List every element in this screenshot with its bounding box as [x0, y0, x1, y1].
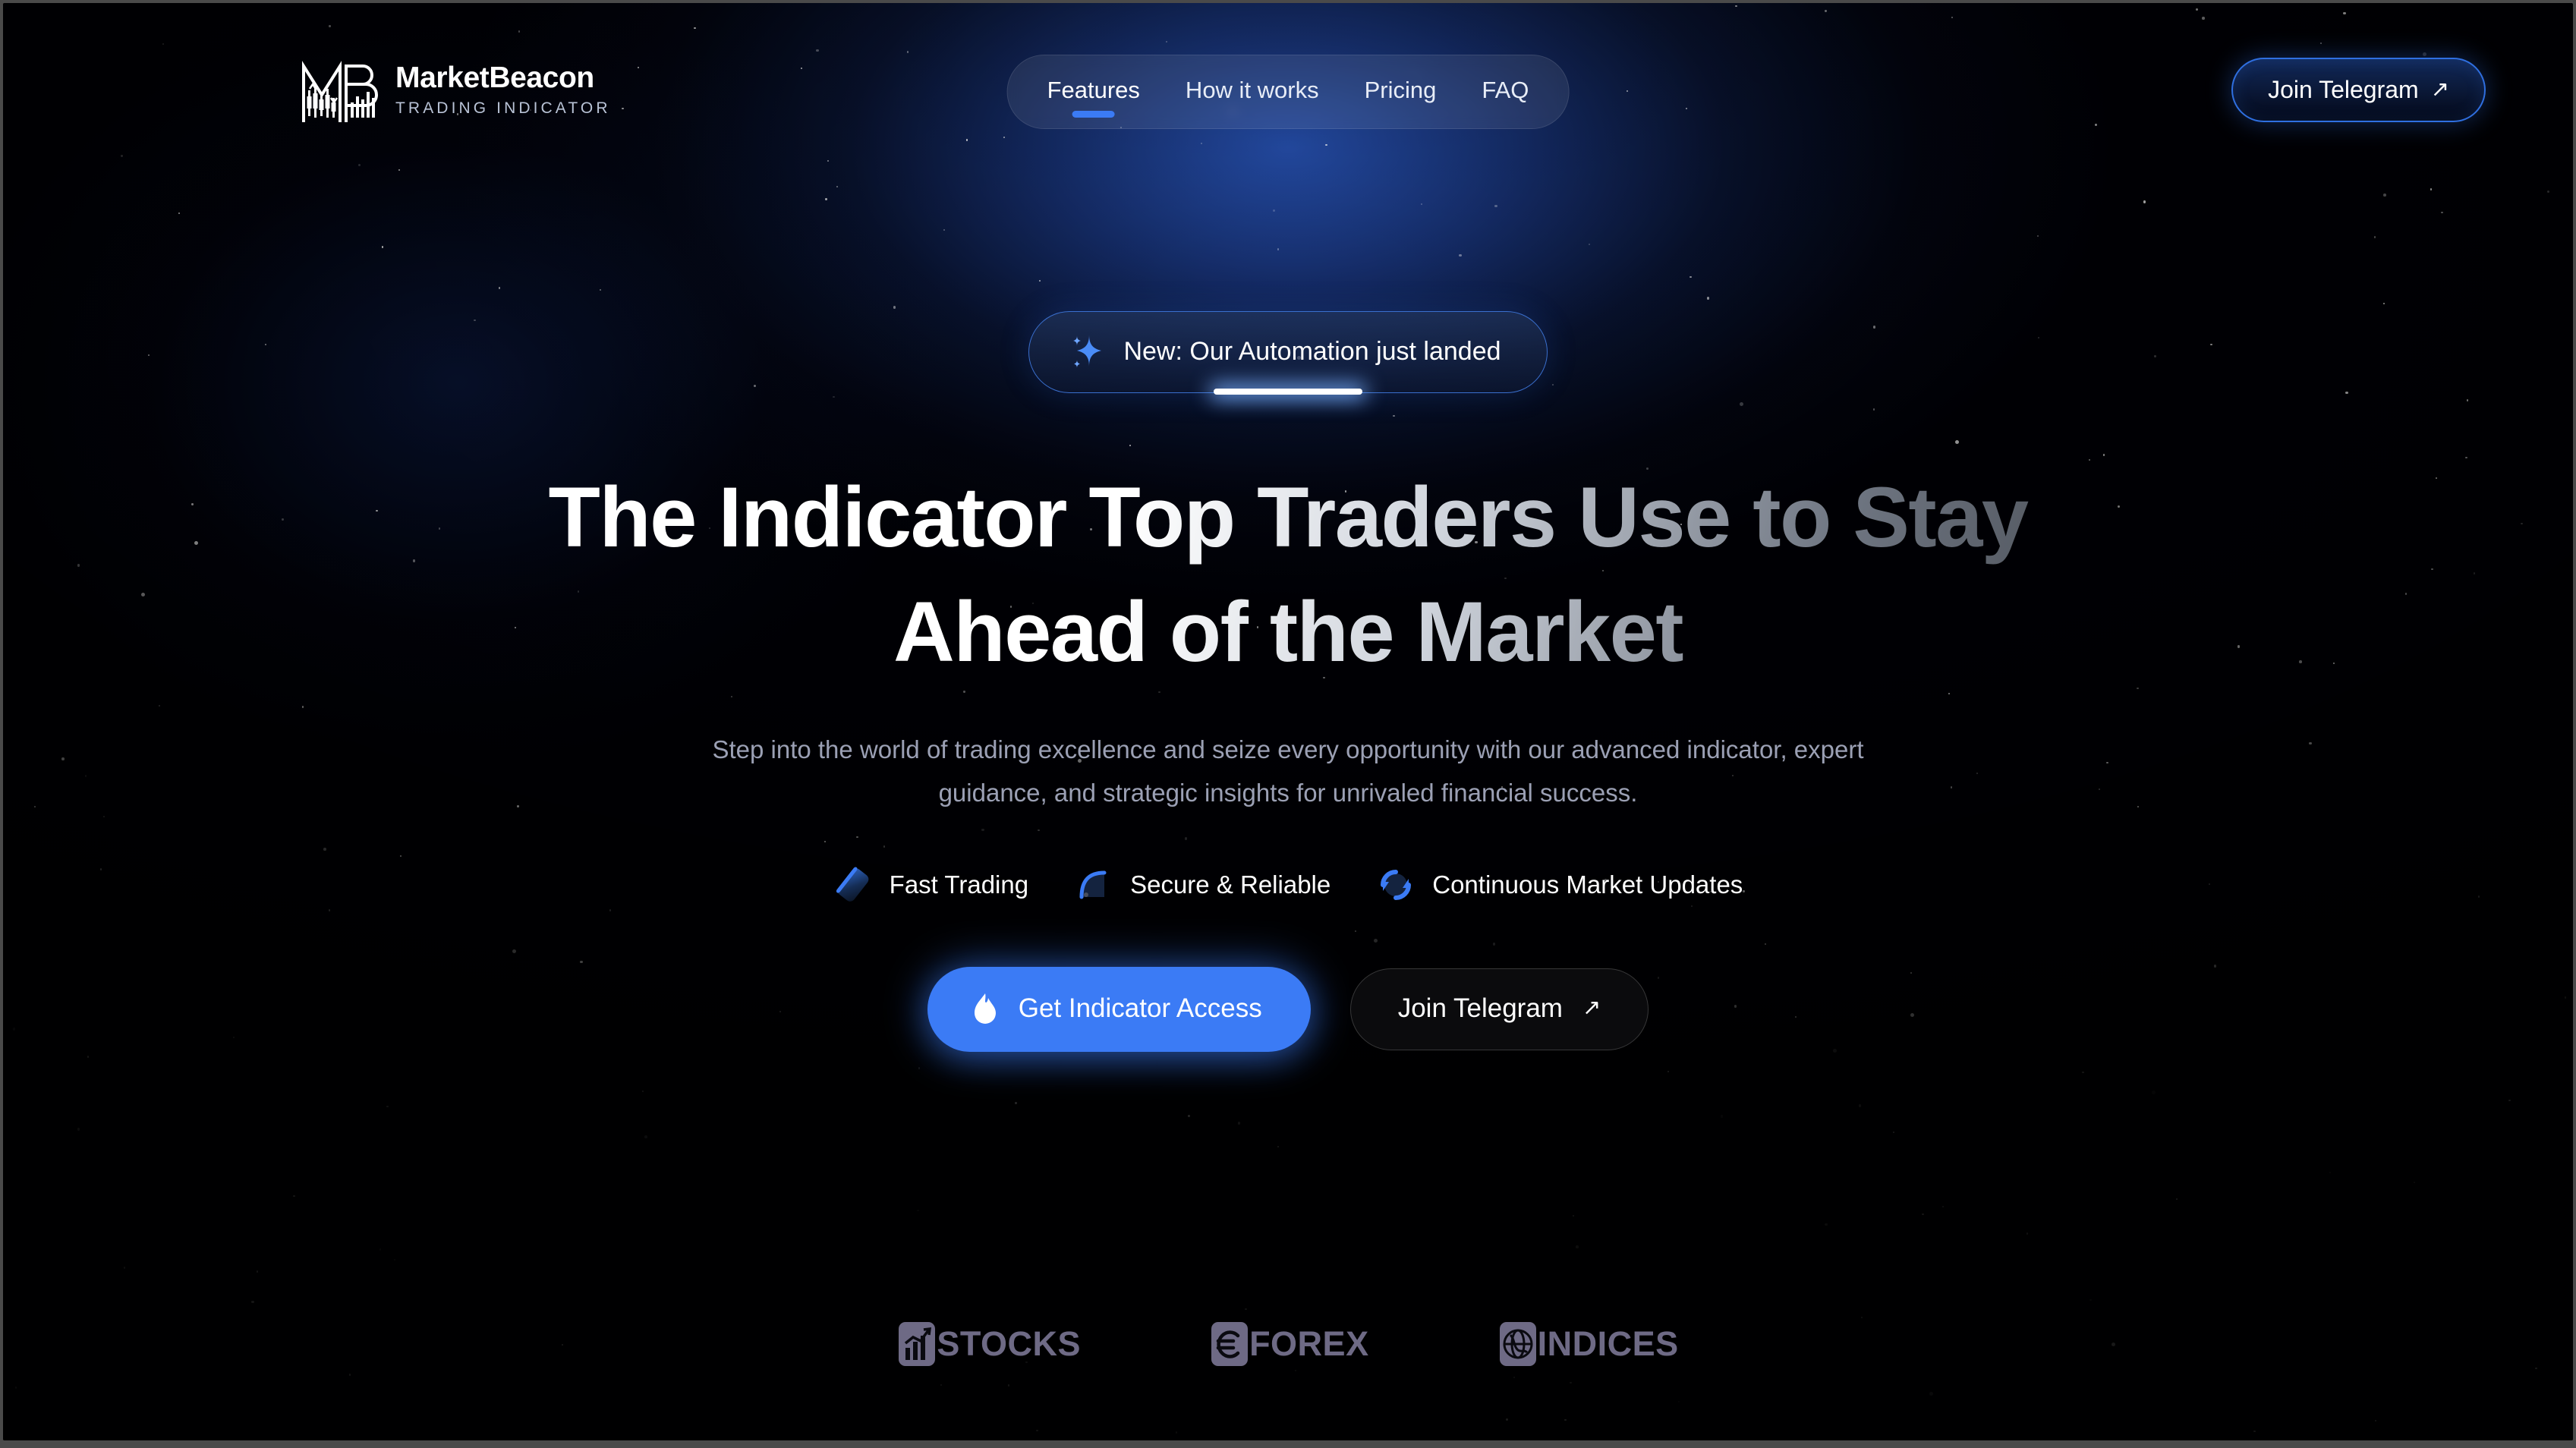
market-label: INDICES	[1538, 1324, 1679, 1364]
sparkle-icon	[1069, 332, 1104, 371]
landing-page: MarketBeacon TRADING INDICATOR Features …	[3, 3, 2573, 1440]
market-item-forex: FOREX	[1210, 1321, 1369, 1368]
feature-chip-fast-trading: Fast Trading	[833, 865, 1028, 905]
euro-currency-icon	[1210, 1321, 1249, 1368]
brand-tagline: TRADING INDICATOR	[395, 99, 611, 118]
nav-item-label: How it works	[1186, 77, 1319, 103]
globe-icon	[1498, 1321, 1538, 1368]
primary-nav: Features How it works Pricing FAQ	[1007, 55, 1570, 129]
feature-chip-row: Fast Trading Secure & Reliable C	[833, 865, 1743, 905]
hero-join-telegram-label: Join Telegram	[1398, 993, 1563, 1024]
announcement-accent-bar	[1214, 389, 1362, 395]
nav-item-faq[interactable]: FAQ	[1459, 63, 1551, 121]
flame-icon	[970, 991, 1000, 1026]
hero-join-telegram-button[interactable]: Join Telegram ↗	[1350, 968, 1649, 1050]
market-item-indices: INDICES	[1498, 1321, 1679, 1368]
market-item-stocks: STOCKS	[897, 1321, 1081, 1368]
arrow-up-right-icon: ↗	[1582, 997, 1601, 1019]
arrow-up-right-icon: ↗	[2431, 79, 2449, 101]
mb-monogram-candlestick-icon	[299, 55, 379, 125]
browser-window-frame: MarketBeacon TRADING INDICATOR Features …	[0, 0, 2576, 1448]
feature-chip-market-updates: Continuous Market Updates	[1376, 865, 1743, 905]
nav-active-underline	[1072, 111, 1115, 118]
nav-item-label: Features	[1047, 77, 1140, 103]
brand-name: MarketBeacon	[395, 63, 611, 94]
get-indicator-access-button[interactable]: Get Indicator Access	[927, 967, 1311, 1052]
nav-item-how-it-works[interactable]: How it works	[1163, 63, 1342, 121]
shield-icon	[1074, 865, 1113, 905]
feature-label: Fast Trading	[890, 870, 1028, 899]
site-header: MarketBeacon TRADING INDICATOR Features …	[3, 3, 2573, 178]
header-join-telegram-label: Join Telegram	[2268, 76, 2419, 104]
nav-item-features[interactable]: Features	[1025, 63, 1163, 121]
announcement-label: New: Our Automation just landed	[1123, 337, 1501, 367]
nav-item-pricing[interactable]: Pricing	[1342, 63, 1460, 121]
page-title: The Indicator Top Traders Use to Stay Ah…	[415, 460, 2161, 689]
feature-chip-secure-reliable: Secure & Reliable	[1074, 865, 1331, 905]
lightning-bolt-icon	[833, 865, 873, 905]
nav-item-label: Pricing	[1365, 77, 1437, 103]
market-types-row: STOCKS FOREX INDICES	[3, 1321, 2573, 1368]
get-indicator-access-label: Get Indicator Access	[1019, 993, 1262, 1024]
market-label: STOCKS	[937, 1324, 1081, 1364]
brand-text: MarketBeacon TRADING INDICATOR	[395, 63, 611, 118]
hero-subtitle: Step into the world of trading excellenc…	[696, 729, 1880, 815]
brand-logo[interactable]: MarketBeacon TRADING INDICATOR	[299, 55, 611, 125]
cta-row: Get Indicator Access Join Telegram ↗	[927, 967, 1649, 1052]
nav-item-label: FAQ	[1482, 77, 1529, 103]
feature-label: Continuous Market Updates	[1432, 870, 1743, 899]
feature-label: Secure & Reliable	[1130, 870, 1331, 899]
announcement-badge[interactable]: New: Our Automation just landed	[1028, 311, 1547, 393]
hero-section: New: Our Automation just landed The Indi…	[3, 3, 2573, 1440]
refresh-sync-icon	[1376, 865, 1416, 905]
market-label: FOREX	[1249, 1324, 1369, 1364]
header-join-telegram-button[interactable]: Join Telegram ↗	[2231, 58, 2486, 122]
bar-chart-icon	[897, 1321, 937, 1368]
